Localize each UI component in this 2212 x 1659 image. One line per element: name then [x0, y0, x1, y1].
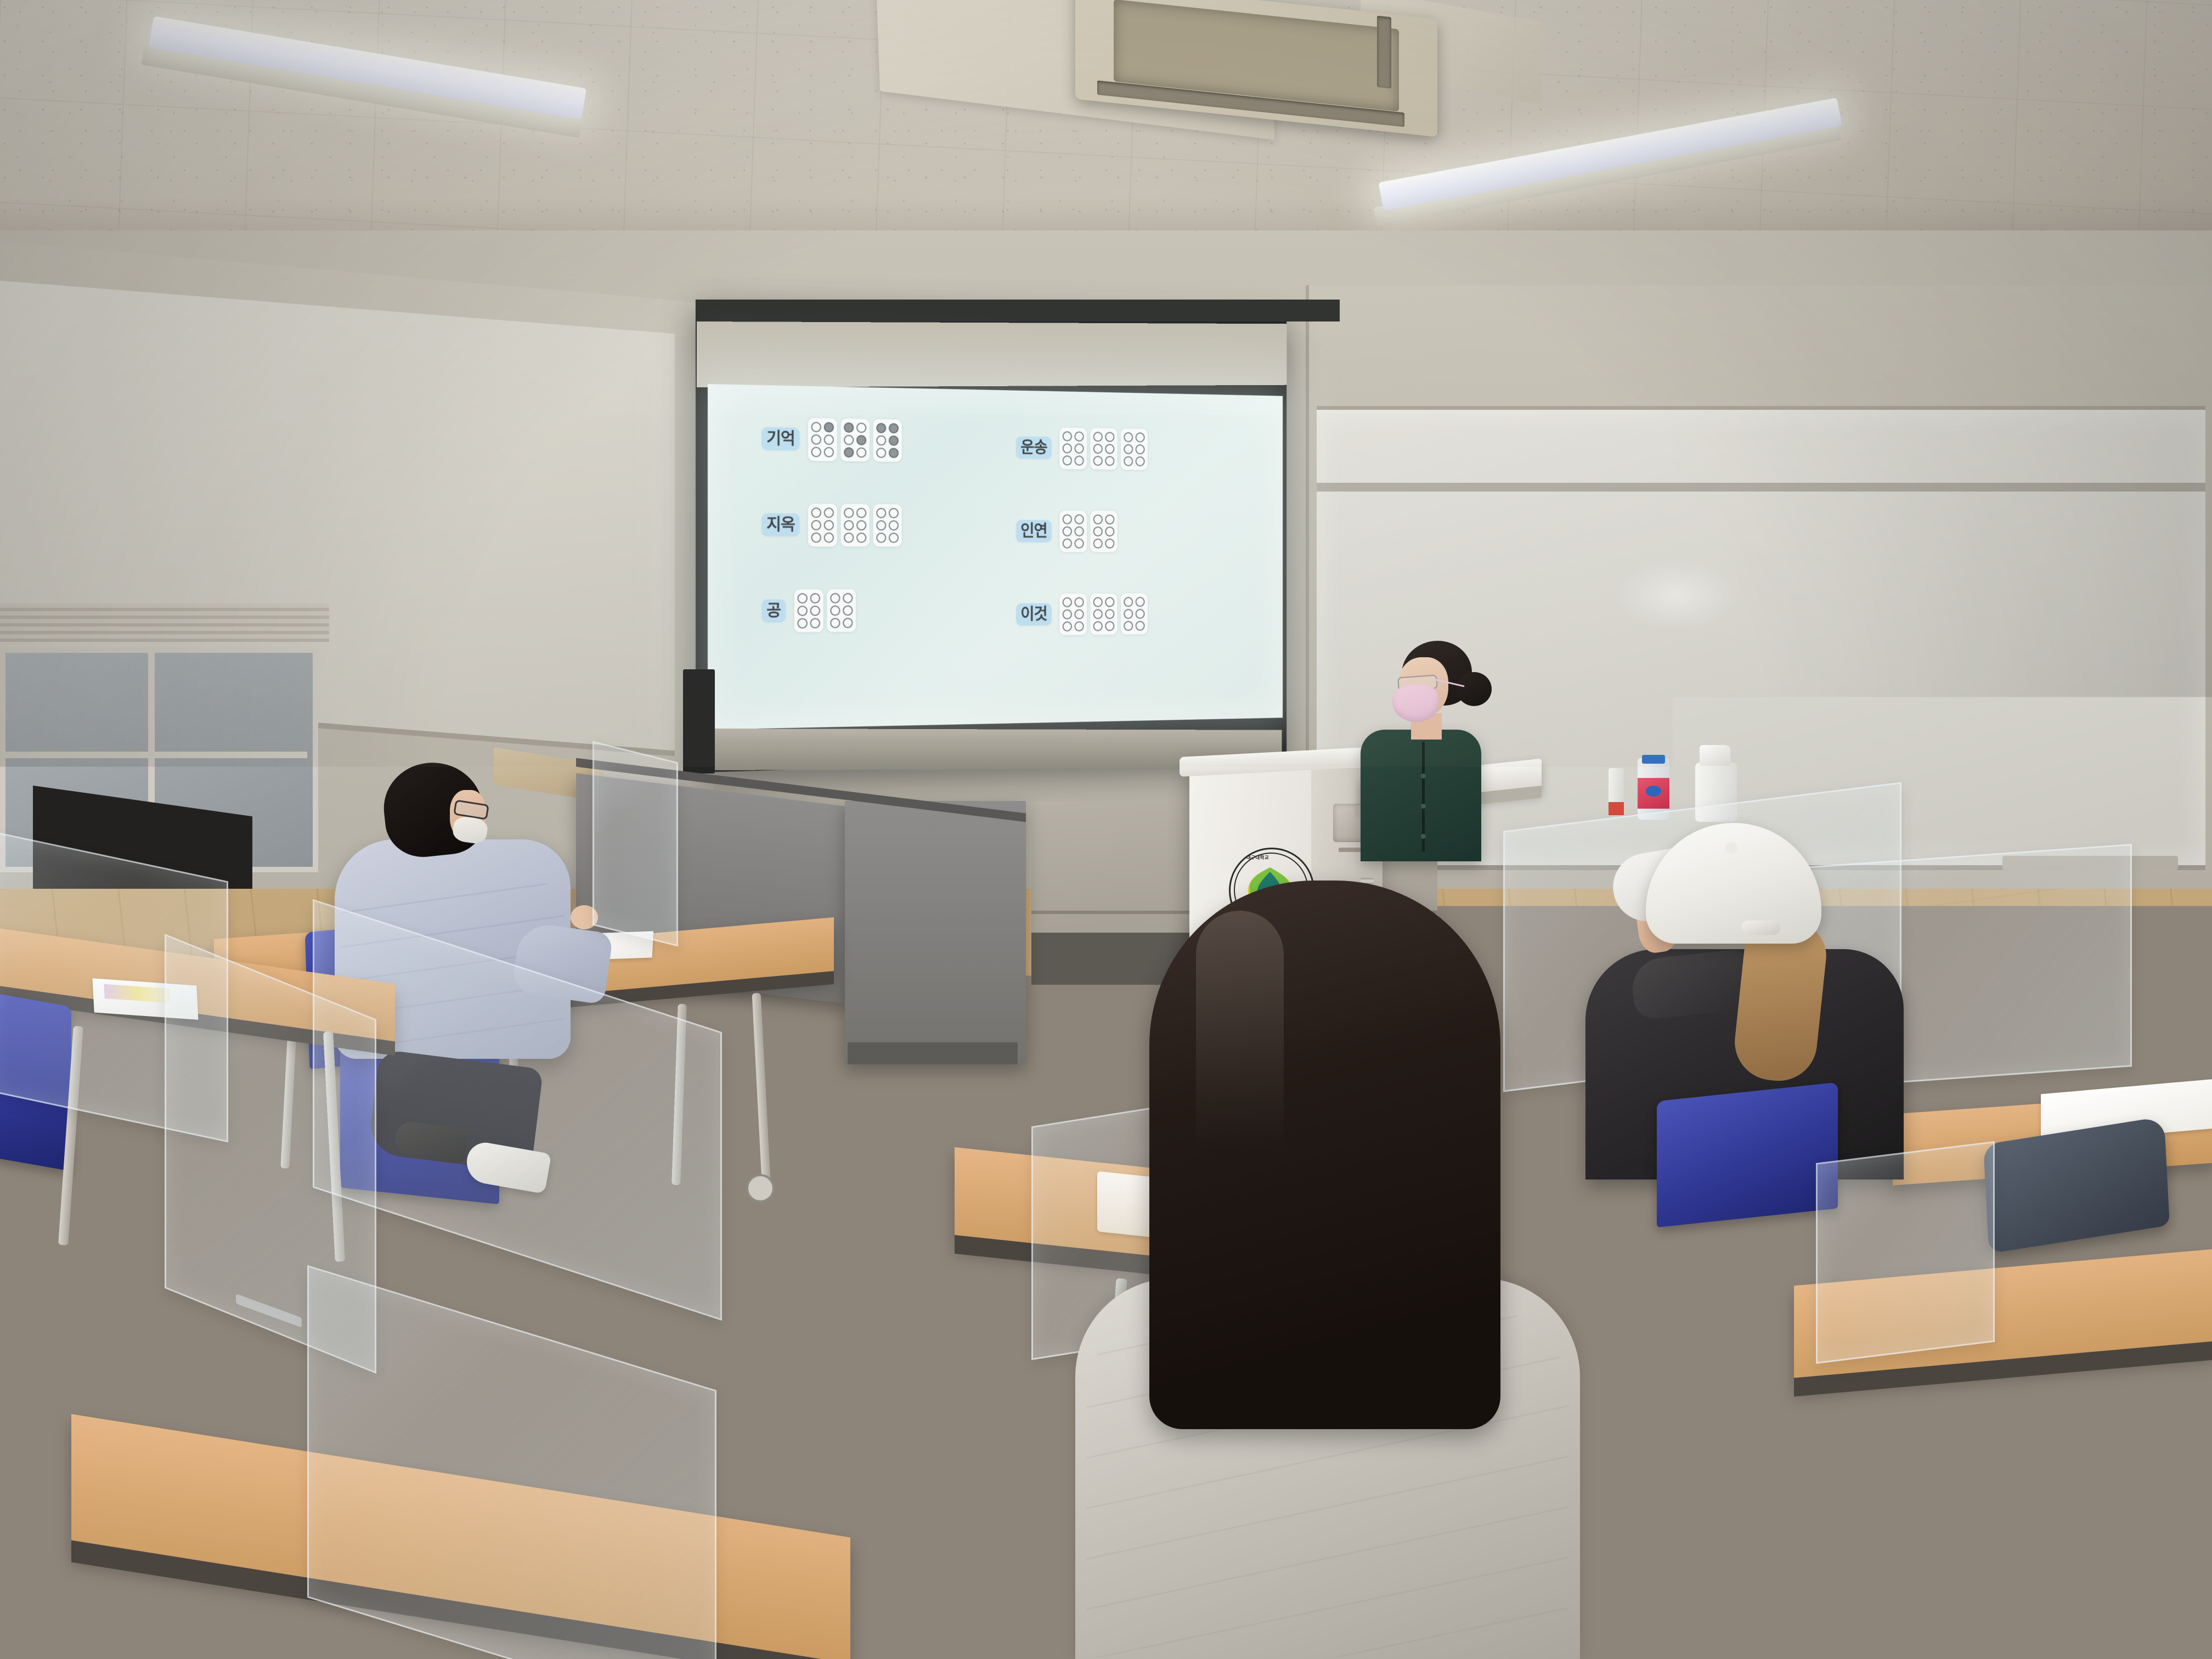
presenter-face-mask [1392, 685, 1438, 722]
braille-dot [1075, 621, 1084, 631]
braille-dot [811, 507, 821, 518]
braille-dot [1105, 597, 1114, 607]
braille-dot [797, 618, 807, 628]
braille-cell [841, 504, 870, 546]
braille-word-label: 이것 [1016, 603, 1052, 625]
braille-dot [1093, 431, 1103, 441]
student-right-cap-button [1725, 842, 1737, 854]
braille-cell [808, 417, 837, 461]
braille-dot [889, 435, 899, 445]
braille-cell [827, 589, 856, 631]
window-blind [0, 603, 329, 642]
braille-dot [1075, 431, 1084, 441]
braille-dot [1124, 620, 1133, 630]
braille-dot [811, 434, 821, 444]
braille-dot [1136, 597, 1145, 607]
braille-dot [830, 618, 840, 628]
braille-dot [844, 422, 854, 432]
braille-word-label: 지옥 [761, 513, 799, 536]
braille-dot [811, 447, 821, 457]
braille-dot [797, 593, 807, 603]
logo-korean-name: 대구대학교 [1246, 854, 1269, 861]
braille-dot [844, 507, 854, 518]
braille-dot [844, 435, 854, 445]
presenter-hair-bun [1457, 672, 1492, 706]
braille-dot [1105, 526, 1114, 536]
braille-dot [876, 532, 886, 543]
braille-dot [824, 447, 834, 457]
braille-dot [1075, 455, 1084, 465]
braille-row: 공 [761, 584, 901, 637]
braille-dot [1063, 538, 1072, 548]
braille-dot [856, 422, 866, 433]
braille-dot [830, 605, 840, 616]
braille-cell [873, 504, 902, 546]
braille-dot [856, 507, 866, 518]
braille-dot [824, 532, 834, 543]
braille-dot [824, 435, 834, 445]
braille-dot [1093, 621, 1103, 631]
desk-caster-1 [746, 1174, 775, 1203]
braille-dot [824, 507, 834, 518]
braille-dot [1105, 621, 1114, 631]
screen-upper-blank [697, 321, 1286, 387]
window-mullion-horizontal [0, 752, 307, 758]
braille-dot [797, 605, 807, 616]
braille-dot [856, 532, 866, 543]
braille-cell [1091, 593, 1118, 635]
braille-dot [889, 423, 899, 433]
braille-dot [1075, 538, 1084, 548]
acrylic-divider-partition-side [592, 741, 678, 947]
braille-dot [876, 520, 886, 531]
braille-dot [1136, 432, 1145, 442]
braille-dot [811, 421, 821, 432]
presenter-body [1361, 730, 1481, 861]
braille-row: 지옥 [761, 499, 901, 551]
student-right-hair-tie [1742, 921, 1780, 935]
braille-cell-group [1060, 593, 1148, 635]
braille-cell [841, 418, 870, 461]
braille-dot [1063, 455, 1072, 465]
whiteboard-smudge [1613, 560, 1739, 631]
water-bottle-cap [1642, 755, 1665, 764]
braille-dot [1105, 538, 1114, 548]
braille-cell-group [808, 504, 902, 546]
braille-dot [1136, 456, 1145, 466]
braille-dot [876, 435, 886, 445]
braille-cell [1121, 593, 1148, 634]
braille-dot [876, 447, 886, 458]
braille-dot [1105, 514, 1114, 524]
braille-cell [1091, 511, 1118, 552]
braille-dot [810, 593, 820, 603]
braille-row: 운송 [1016, 422, 1148, 474]
ac-vane-right [1377, 16, 1391, 89]
braille-dot [1124, 456, 1133, 466]
braille-dot [1093, 609, 1103, 619]
braille-dot [843, 618, 853, 628]
braille-dot [1136, 444, 1145, 454]
braille-dot [843, 592, 853, 603]
braille-dot [1075, 609, 1084, 619]
braille-dot [1063, 431, 1072, 441]
small-bottle-label [1609, 802, 1624, 815]
braille-cell [1060, 427, 1087, 469]
projected-slide-content: 기억지옥공 운송인연이것 [713, 390, 1279, 724]
braille-row: 인연 [1016, 506, 1148, 557]
cubicle-partition-front [845, 801, 1026, 1064]
desk-caster-2 [801, 1223, 834, 1256]
braille-dot [1105, 456, 1114, 466]
braille-dot [889, 520, 899, 531]
braille-dot [844, 447, 854, 458]
braille-dot [856, 447, 866, 458]
braille-dot [1093, 514, 1103, 524]
braille-dot [856, 435, 866, 445]
braille-row: 기억 [761, 413, 901, 466]
classroom-photo: 기억지옥공 운송인연이것 대구대학교 DAEGU UNIVERSITY 1956 [0, 0, 2212, 1659]
slide-right-column: 운송인연이것 [1016, 422, 1148, 640]
braille-dot [1093, 443, 1103, 453]
braille-cell [1060, 510, 1087, 552]
braille-cell-group [1060, 510, 1118, 552]
braille-dot [889, 448, 899, 458]
braille-dot [1075, 597, 1084, 607]
braille-dot [843, 605, 853, 616]
braille-dot [1093, 538, 1103, 548]
hand-sanitizer-pump[interactable] [1700, 745, 1730, 766]
braille-dot [1063, 526, 1072, 536]
braille-dot [1075, 526, 1084, 536]
braille-dot [889, 507, 899, 518]
braille-cell-group [808, 417, 902, 461]
braille-dot [1105, 432, 1114, 442]
braille-dot [1093, 526, 1103, 536]
braille-dot [844, 520, 854, 531]
braille-dot [1063, 443, 1072, 453]
braille-dot [1063, 621, 1072, 631]
braille-cell [1091, 428, 1118, 470]
slide-left-column: 기억지옥공 [761, 413, 901, 637]
braille-dot [824, 520, 834, 530]
braille-cell [873, 419, 902, 461]
braille-dot [1124, 608, 1133, 618]
braille-word-label: 운송 [1016, 437, 1052, 459]
whiteboard-top-rail [1317, 483, 2205, 492]
braille-dot [811, 520, 821, 530]
braille-dot [830, 592, 840, 603]
student-center-hair-highlight [1196, 911, 1284, 1251]
braille-word-label: 공 [761, 600, 785, 622]
braille-cell [1060, 593, 1087, 635]
braille-dot [876, 422, 886, 433]
braille-dot [811, 532, 821, 543]
braille-dot [1063, 609, 1072, 619]
presenter-button-3 [1421, 834, 1426, 839]
braille-dot [1093, 597, 1103, 607]
braille-cell [794, 589, 823, 632]
braille-dot [1124, 597, 1133, 607]
braille-cell-group [794, 589, 855, 632]
chair-right[interactable] [1657, 1082, 1838, 1228]
braille-dot [1105, 609, 1114, 619]
partition-base [848, 1042, 1018, 1064]
braille-dot [876, 507, 886, 518]
braille-dot [1063, 514, 1072, 524]
braille-cell-group [1060, 427, 1148, 470]
braille-word-label: 기억 [761, 427, 799, 450]
braille-cell [1121, 428, 1148, 470]
iced-tea-bottle: 보성홍차 아이스티 0 [1906, 1234, 1972, 1470]
screen-side-box [683, 669, 715, 774]
braille-dot [1093, 455, 1103, 465]
braille-dot [856, 520, 866, 531]
projection-screen-roller [696, 300, 1340, 321]
water-bottle-logo [1646, 786, 1661, 797]
braille-dot [844, 532, 854, 543]
braille-dot [1124, 432, 1133, 442]
braille-dot [1075, 514, 1084, 524]
braille-dot [810, 605, 820, 616]
braille-dot [1105, 444, 1114, 454]
braille-dot [1136, 620, 1145, 630]
braille-dot [889, 532, 899, 543]
desk-caster-5 [181, 1366, 218, 1403]
braille-row: 이것 [1016, 589, 1148, 640]
braille-dot [824, 422, 834, 432]
braille-dot [1075, 443, 1084, 453]
braille-dot [1124, 444, 1133, 454]
presenter-button-2 [1421, 804, 1426, 809]
braille-dot [810, 618, 820, 628]
braille-cell [808, 504, 837, 546]
braille-dot [1136, 608, 1145, 618]
presenter-button-1 [1421, 774, 1426, 778]
braille-dot [1063, 597, 1072, 607]
braille-word-label: 인연 [1016, 520, 1052, 542]
